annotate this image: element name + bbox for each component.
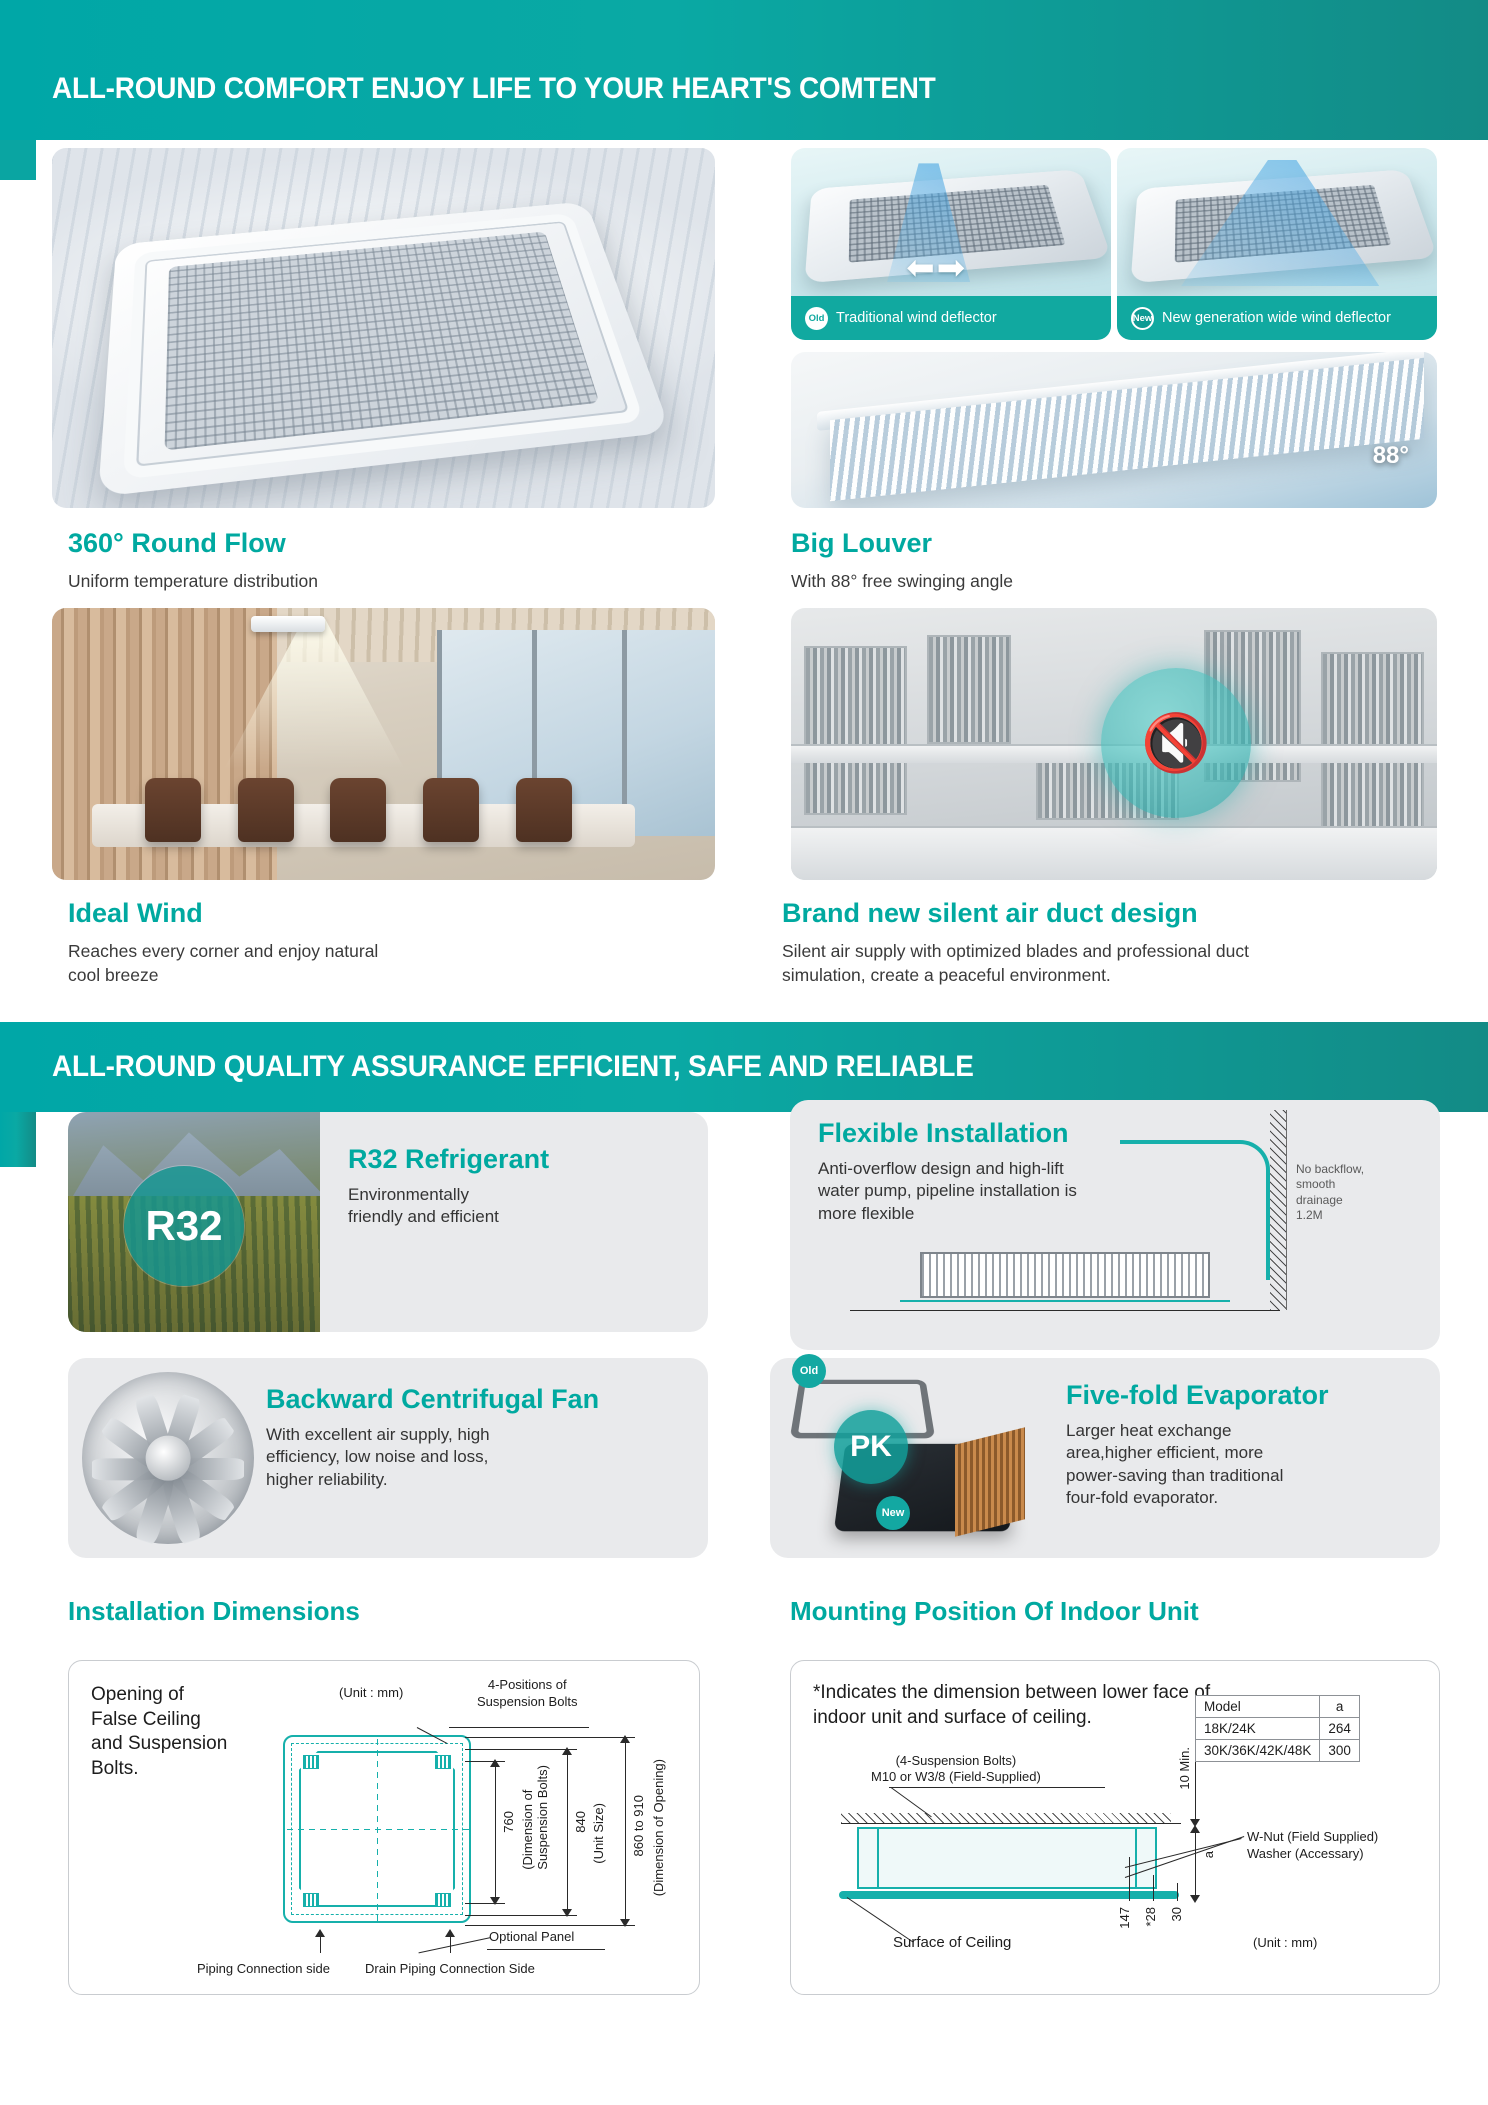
- centerline-horizontal: [287, 1829, 469, 1830]
- suspension-bolt-mark: [435, 1893, 451, 1907]
- table-row: 18K/24K 264: [1196, 1718, 1360, 1740]
- dim760-value: 760: [501, 1811, 518, 1833]
- wall-hatch: [1270, 1110, 1286, 1310]
- dim840-tick-top: [465, 1749, 577, 1750]
- photo-traditional-deflector: ⬅➡ Old Traditional wind deflector: [791, 148, 1111, 340]
- indoor-unit-body: [857, 1827, 1157, 1889]
- chair: [238, 778, 294, 842]
- mute-speaker-icon: 🔇: [1141, 715, 1211, 771]
- table-row: 30K/36K/42K/48K 300: [1196, 1740, 1360, 1762]
- r32-badge: R32: [124, 1166, 244, 1286]
- dim-147-line: [1129, 1857, 1130, 1901]
- dim840-line: [567, 1749, 568, 1915]
- table-header-model: Model: [1196, 1696, 1320, 1718]
- dim-28-value: *28: [1143, 1907, 1160, 1927]
- dim-a-arrow-top: [1190, 1825, 1200, 1833]
- card-five-fold-evaporator: Old New PK Five-fold Evaporator Larger h…: [770, 1358, 1440, 1558]
- indoor-unit-section: [920, 1252, 1210, 1298]
- dim-opening-value: 860 to 910: [631, 1795, 648, 1856]
- optional-panel-leader: [419, 1937, 492, 1953]
- card-desc-r32: Environmentally friendly and efficient: [348, 1184, 678, 1229]
- dim-opening-label: (Dimension of Opening): [651, 1759, 668, 1896]
- installation-intro-text: Opening of False Ceiling and Suspension …: [91, 1683, 291, 1782]
- card-r32: R32 R32 Refrigerant Environmentally frie…: [68, 1112, 708, 1332]
- feature-desc-silent-duct: Silent air supply with optimized blades …: [782, 940, 1442, 987]
- ceiling-hatch: [841, 1813, 1171, 1823]
- library-floor: [791, 826, 1437, 880]
- ceiling-unit-small: [251, 616, 325, 632]
- chair: [423, 778, 479, 842]
- louver-angle-overlay: 88°: [1373, 442, 1409, 470]
- old-badge-evaporator: Old: [792, 1354, 826, 1388]
- dim-a-line: [1195, 1827, 1196, 1901]
- feature-desc-round-flow: Uniform temperature distribution: [68, 570, 688, 594]
- dim-a-arrow-bottom: [1190, 1895, 1200, 1903]
- photo-silent-duct: 🔇: [791, 608, 1437, 880]
- airflow-arrows-icon: ⬅➡: [906, 248, 967, 288]
- mounting-bolts-label: (4-Suspension Bolts) M10 or W3/8 (Field-…: [871, 1753, 1041, 1784]
- dim-30-value: 30: [1169, 1907, 1186, 1921]
- old-badge: Old: [805, 307, 828, 330]
- installation-dimensions-title: Installation Dimensions: [68, 1596, 360, 1627]
- library-shelf: [804, 646, 907, 815]
- drainage-annotation: No backflow, smooth drainage 1.2M: [1296, 1162, 1364, 1223]
- forest-photo: R32: [68, 1112, 320, 1332]
- mounting-position-title: Mounting Position Of Indoor Unit: [790, 1596, 1199, 1627]
- deflector-new-caption: New New generation wide wind deflector: [1117, 296, 1437, 340]
- new-badge-evaporator: New: [876, 1496, 910, 1530]
- deflector-new-label: New generation wide wind deflector: [1162, 310, 1391, 326]
- suspension-bolt-mark: [435, 1755, 451, 1769]
- quality-banner-title: ALL-ROUND QUALITY ASSURANCE EFFICIENT, S…: [52, 1050, 974, 1084]
- dim760-tick-bottom: [465, 1903, 505, 1904]
- suspension-bolt-mark: [303, 1755, 319, 1769]
- deflector-old-caption: Old Traditional wind deflector: [791, 296, 1111, 340]
- optional-panel-underline: [487, 1949, 605, 1950]
- label-optional-panel: Optional Panel: [489, 1929, 574, 1946]
- centerline-vertical: [377, 1739, 378, 1921]
- chair: [516, 778, 572, 842]
- card-flexible-installation: Flexible Installation Anti-overflow desi…: [790, 1100, 1440, 1350]
- unit-panel-plate: [839, 1891, 1179, 1899]
- installation-dimensions-panel: Opening of False Ceiling and Suspension …: [68, 1660, 700, 1995]
- dim-30-line: [1177, 1883, 1178, 1901]
- feature-desc-ideal-wind: Reaches every corner and enjoy natural c…: [68, 940, 688, 987]
- ceiling-baseline: [841, 1823, 1181, 1824]
- brochure-page: ALL-ROUND COMFORT ENJOY LIFE TO YOUR HEA…: [0, 0, 1488, 2105]
- wall-line: [1286, 1110, 1287, 1310]
- centrifugal-fan-image: [82, 1372, 254, 1544]
- wnut-label: W-Nut (Field Supplied) Washer (Accessary…: [1247, 1829, 1378, 1863]
- silent-icon-circle: 🔇: [1101, 668, 1251, 818]
- mounting-position-panel: *Indicates the dimension between lower f…: [790, 1660, 1440, 1995]
- feature-title-round-flow: 360° Round Flow: [68, 528, 286, 559]
- card-centrifugal-fan: Backward Centrifugal Fan With excellent …: [68, 1358, 708, 1558]
- suspension-rod-left: [877, 1827, 879, 1889]
- table-cell-a: 300: [1320, 1740, 1360, 1762]
- card-title-r32: R32 Refrigerant: [348, 1144, 549, 1175]
- new-badge: New: [1131, 307, 1154, 330]
- ceiling-line: [850, 1310, 1280, 1311]
- table-cell-model: 18K/24K: [1196, 1718, 1320, 1740]
- copper-fins: [955, 1427, 1025, 1537]
- drain-arrow-stem: [450, 1935, 451, 1953]
- card-desc-fan: With excellent air supply, high efficien…: [266, 1424, 686, 1491]
- chair: [330, 778, 386, 842]
- deflector-old-label: Traditional wind deflector: [836, 310, 997, 326]
- photo-new-deflector: New New generation wide wind deflector: [1117, 148, 1437, 340]
- comfort-banner-left-strip: [0, 140, 36, 180]
- quality-banner-left-strip: [0, 1112, 36, 1167]
- table-header-a: a: [1320, 1696, 1360, 1718]
- dim760-tick-top: [465, 1761, 505, 1762]
- pk-badge: PK: [834, 1410, 908, 1484]
- card-title-fan: Backward Centrifugal Fan: [266, 1384, 599, 1415]
- dim-10min-value: 10 Min.: [1177, 1747, 1194, 1790]
- callout-leader-h: [449, 1727, 589, 1728]
- comfort-banner: [0, 0, 1488, 140]
- library-shelf: [927, 635, 1011, 744]
- photo-big-louver: 88°: [791, 352, 1437, 508]
- unit-note-installation: (Unit : mm): [339, 1685, 403, 1702]
- table-cell-model: 30K/36K/42K/48K: [1196, 1740, 1320, 1762]
- fan-hub: [146, 1436, 191, 1481]
- evaporator-image: Old New PK: [780, 1348, 1030, 1558]
- panel-line: [900, 1300, 1230, 1302]
- feature-title-big-louver: Big Louver: [791, 528, 932, 559]
- callout-suspension-bolts: 4-Positions of Suspension Bolts: [477, 1677, 577, 1710]
- dim-147-value: 147: [1117, 1907, 1134, 1929]
- chair: [145, 778, 201, 842]
- dim-opening-line: [625, 1737, 626, 1925]
- bolts-label-underline: [889, 1787, 1105, 1788]
- card-title-flexible: Flexible Installation: [818, 1118, 1069, 1149]
- label-piping-connection: Piping Connection side: [197, 1961, 330, 1978]
- table-cell-a: 264: [1320, 1718, 1360, 1740]
- dim-a-value: a: [1201, 1851, 1218, 1858]
- piping-arrow-stem: [320, 1935, 321, 1953]
- suspension-bolt-mark: [303, 1893, 319, 1907]
- label-drain-connection: Drain Piping Connection Side: [365, 1961, 535, 1978]
- dim840-label: (Unit Size): [591, 1803, 608, 1864]
- dim-28-line: [1153, 1875, 1154, 1901]
- photo-ideal-wind: [52, 608, 715, 880]
- library-shelf: [1321, 652, 1424, 832]
- comfort-banner-title: ALL-ROUND COMFORT ENJOY LIFE TO YOUR HEA…: [52, 72, 936, 106]
- card-desc-evaporator: Larger heat exchange area,higher efficie…: [1066, 1420, 1426, 1510]
- feature-title-ideal-wind: Ideal Wind: [68, 898, 203, 929]
- dim760-label: (Dimension of Suspension Bolts): [521, 1765, 551, 1870]
- mounting-unit-note: (Unit : mm): [1253, 1935, 1317, 1952]
- card-title-evaporator: Five-fold Evaporator: [1066, 1380, 1329, 1411]
- comfort-banner-notch: [0, 140, 36, 1150]
- dim840-value: 840: [573, 1811, 590, 1833]
- dim-opening-tick-top: [465, 1737, 635, 1738]
- model-dimension-table: Model a 18K/24K 264 30K/36K/42K/48K 300: [1195, 1695, 1360, 1762]
- suspension-rod-right: [1135, 1827, 1137, 1889]
- dim760-line: [495, 1761, 496, 1903]
- photo-round-flow: [52, 148, 715, 508]
- table-header-row: Model a: [1196, 1696, 1360, 1718]
- dim-opening-tick-bottom: [465, 1925, 635, 1926]
- surface-of-ceiling-label: Surface of Ceiling: [893, 1933, 1011, 1952]
- dim840-tick-bottom: [465, 1915, 577, 1916]
- feature-desc-big-louver: With 88° free swinging angle: [791, 570, 1411, 594]
- feature-title-silent-duct: Brand new silent air duct design: [782, 898, 1198, 929]
